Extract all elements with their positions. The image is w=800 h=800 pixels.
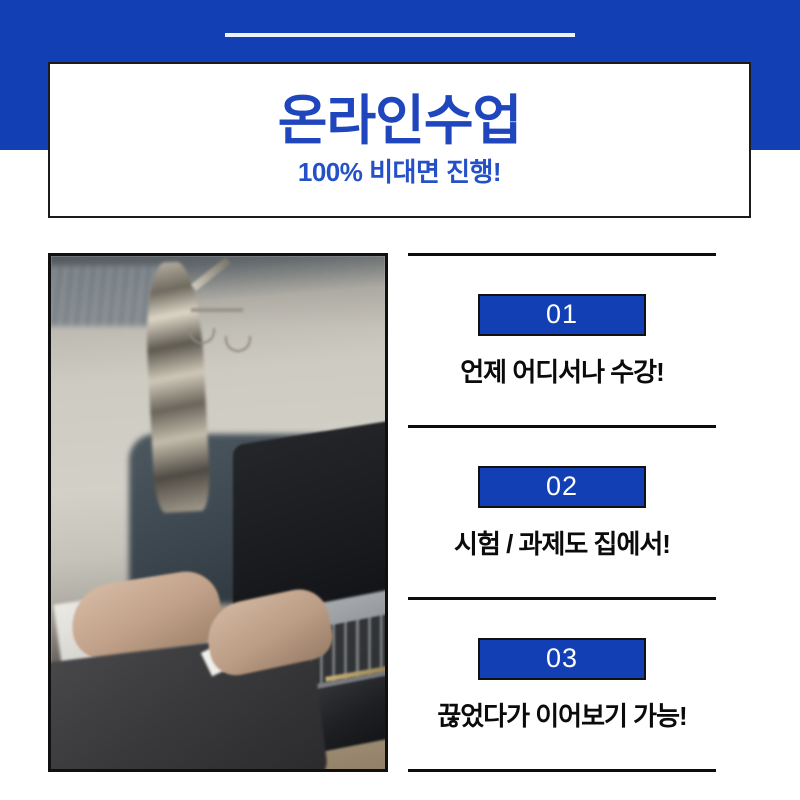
feature-item-01: 01 언제 어디서나 수강! [408, 256, 716, 425]
feature-number-02: 02 [546, 473, 578, 500]
feature-item-02: 02 시험 / 과제도 집에서! [408, 428, 716, 597]
feature-text-03: 끊었다가 이어보기 가능! [437, 702, 686, 732]
feature-number-01: 01 [546, 301, 578, 328]
feature-badge-01: 01 [478, 294, 646, 336]
scale-beam-detail [191, 308, 243, 312]
feature-item-03: 03 끊었다가 이어보기 가능! [408, 600, 716, 769]
hero-photo [48, 253, 388, 772]
feature-badge-03: 03 [478, 638, 646, 680]
promo-poster: 온라인수업 100% 비대면 진행! 01 언제 어디서나 수강! [0, 0, 800, 800]
title-card: 온라인수업 100% 비대면 진행! [48, 62, 751, 218]
feature-text-01: 언제 어디서나 수강! [460, 358, 663, 388]
page-subtitle: 100% 비대면 진행! [298, 158, 501, 187]
feature-number-03: 03 [546, 645, 578, 672]
feature-badge-02: 02 [478, 466, 646, 508]
header-rule [225, 33, 575, 37]
feature-text-02: 시험 / 과제도 집에서! [454, 530, 670, 560]
divider-bottom [408, 769, 716, 772]
page-title: 온라인수업 [278, 93, 521, 150]
feature-list: 01 언제 어디서나 수강! 02 시험 / 과제도 집에서! 03 끊었다가 … [408, 253, 716, 772]
